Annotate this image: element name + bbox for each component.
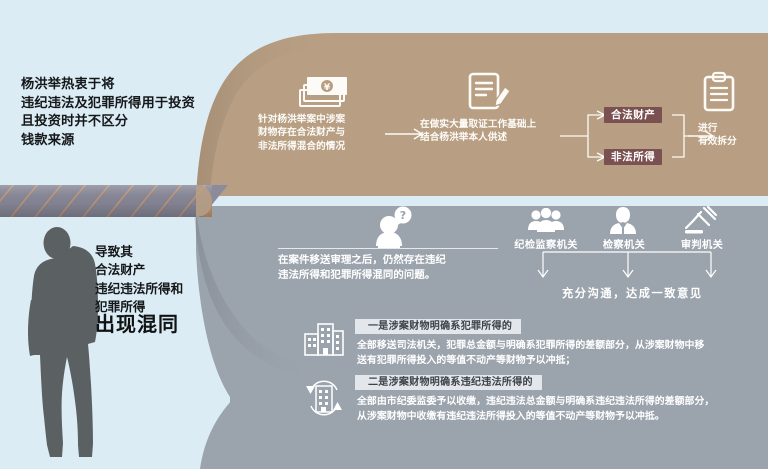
person-question-icon: ?	[370, 206, 414, 248]
panel-seam	[196, 196, 768, 206]
gavel-icon	[684, 205, 718, 235]
tan-step-2-text: 在做实大量取证工作基础上 结合杨洪举本人供述	[420, 118, 570, 145]
svg-text:?: ?	[400, 209, 406, 222]
banknote-stack-icon: ¥	[296, 70, 352, 112]
organ-label-0: 纪检监察机关	[498, 236, 594, 251]
converging-arrows	[525, 250, 745, 284]
question-divider	[278, 248, 498, 249]
organ-label-2: 审判机关	[665, 236, 739, 251]
prosecutor-person-icon	[609, 206, 637, 234]
measure-2-body: 全部由市纪委监委予以收缴，违纪违法总金额与明确系违纪违法所得的差额部分， 从涉案…	[357, 395, 765, 424]
clipboard-icon	[700, 70, 738, 114]
people-group-icon	[527, 208, 565, 234]
branch-chip-illegal: 非法所得	[604, 149, 662, 165]
twisted-rope-divider	[0, 185, 228, 217]
branch-chip-legal: 合法财产	[604, 107, 662, 123]
measure-2-title: 二是涉案财物明确系违纪违法所得的	[355, 375, 542, 390]
tan-step-1-text: 针对杨洪举案中涉案 财物存在合法财产与 非法所得混合的情况	[258, 113, 388, 153]
page-title: 杨洪举热衷于将 违纪违法及犯罪所得用于投资 且投资时并不区分 钱款来源	[21, 76, 231, 150]
infographic-canvas: 杨洪举热衷于将 违纪违法及犯罪所得用于投资 且投资时并不区分 钱款来源 导致其 …	[0, 0, 768, 469]
question-text: 在案件移送审理之后，仍然存在违纪 违法所得和犯罪所得混同的问题。	[278, 253, 508, 283]
tan-step-3-text: 进行 有效拆分	[698, 122, 768, 149]
document-pen-icon	[466, 70, 512, 114]
organ-label-1: 检察机关	[587, 236, 661, 251]
measure-1-title: 一是涉案财物明确系犯罪所得的	[355, 319, 521, 334]
consensus-text: 充分沟通，达成一致意见	[562, 285, 703, 301]
outcome-description: 导致其 合法财产 违纪违法所得和 犯罪所得	[95, 243, 255, 317]
buildings-icon	[303, 322, 345, 356]
measure-1-body: 全部移送司法机关，犯罪总金额与明确系犯罪所得的差额部分，从涉案财物中移 送有犯罪…	[357, 339, 765, 368]
svg-text:¥: ¥	[324, 83, 331, 93]
building-recovery-icon	[300, 378, 348, 418]
outcome-emphasis: 出现混同	[95, 313, 179, 335]
